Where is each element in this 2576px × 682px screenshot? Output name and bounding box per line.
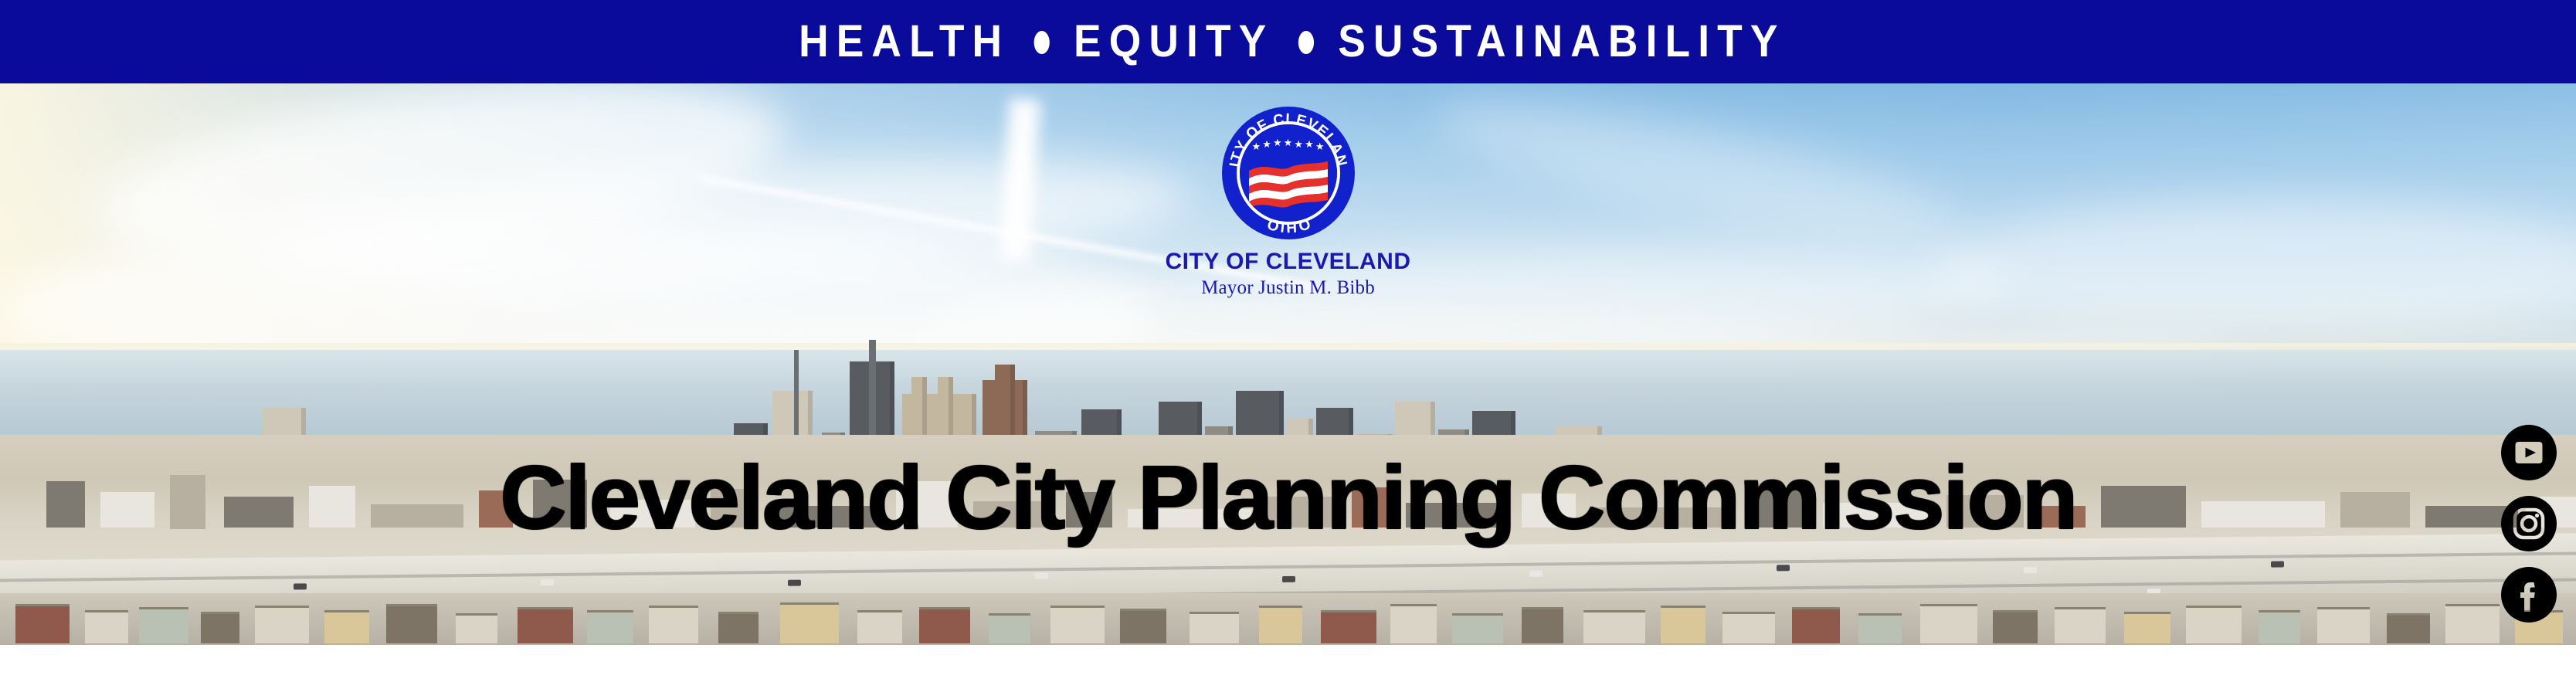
tagline-banner: HEALTHEQUITYSUSTAINABILITY bbox=[0, 0, 2576, 83]
instagram-icon[interactable] bbox=[2501, 496, 2557, 551]
bullet-separator-icon bbox=[1034, 31, 1050, 54]
tagline-word-health: HEALTH bbox=[799, 16, 1010, 66]
cloud-shape bbox=[1426, 83, 1973, 270]
instagram-link[interactable] bbox=[2501, 496, 2557, 551]
waving-flag-icon bbox=[1247, 160, 1329, 208]
city-logo-group[interactable]: CITY OF CLEVELAND OHIO ★ ★ ★ ★ ★ ★ bbox=[1088, 107, 1489, 299]
tagline-word-equity: EQUITY bbox=[1074, 16, 1274, 66]
tagline-word-sustainability: SUSTAINABILITY bbox=[1338, 16, 1785, 66]
tagline-text: HEALTHEQUITYSUSTAINABILITY bbox=[790, 19, 1786, 64]
cloud-shape bbox=[1931, 199, 2576, 338]
foreground-neighborhood bbox=[0, 593, 2576, 645]
mayor-name: Mayor Justin M. Bibb bbox=[1088, 277, 1489, 299]
bullet-separator-icon bbox=[1298, 31, 1314, 54]
star-icon: ★ bbox=[1252, 141, 1261, 151]
page-root: HEALTHEQUITYSUSTAINABILITY bbox=[0, 0, 2576, 682]
seal-inner-disc: ★ ★ ★ ★ ★ ★ ★ bbox=[1240, 124, 1337, 222]
star-icon: ★ bbox=[1315, 141, 1325, 151]
facebook-icon[interactable] bbox=[2501, 567, 2557, 623]
city-of-cleveland-seal-icon[interactable]: CITY OF CLEVELAND OHIO ★ ★ ★ ★ ★ ★ bbox=[1222, 107, 1355, 239]
star-icon: ★ bbox=[1294, 139, 1303, 149]
youtube-link[interactable] bbox=[2501, 425, 2557, 480]
star-icon: ★ bbox=[1262, 139, 1271, 149]
social-links-rail bbox=[2501, 425, 2557, 638]
star-icon: ★ bbox=[1284, 137, 1293, 148]
hero-photo: CITY OF CLEVELAND OHIO ★ ★ ★ ★ ★ ★ bbox=[0, 83, 2576, 645]
facebook-link[interactable] bbox=[2501, 567, 2557, 623]
seal-stars: ★ ★ ★ ★ ★ ★ ★ bbox=[1252, 141, 1325, 151]
star-icon: ★ bbox=[1305, 139, 1314, 149]
bottom-white-strip bbox=[0, 645, 2576, 682]
youtube-icon[interactable] bbox=[2501, 425, 2557, 480]
star-icon: ★ bbox=[1273, 137, 1282, 148]
city-wordmark: CITY OF CLEVELAND bbox=[1088, 249, 1489, 274]
